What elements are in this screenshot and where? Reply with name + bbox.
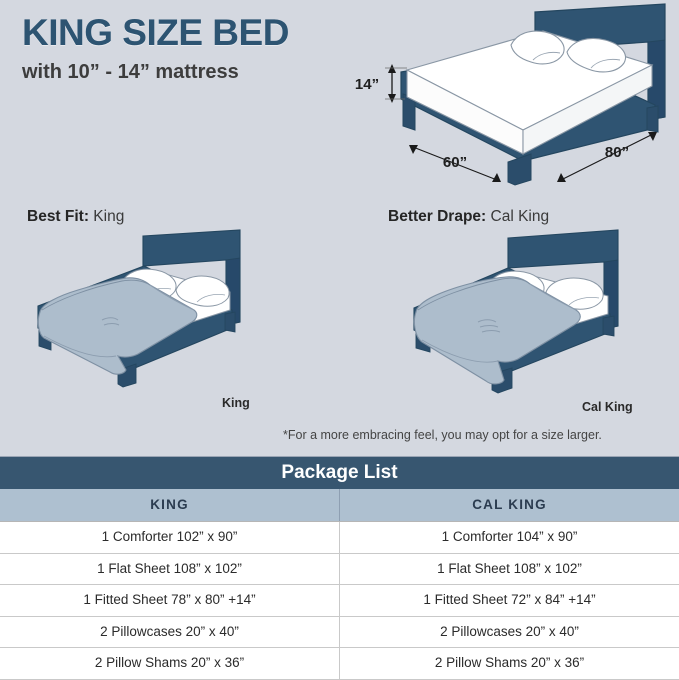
table-row: 1 Fitted Sheet 78” x 80” +14” 1 Fitted S… [0, 585, 679, 617]
cell-cal-king: 2 Pillowcases 20” x 40” [339, 617, 679, 648]
column-header-king: KING [0, 489, 339, 521]
dim-height-arrow-top [388, 64, 396, 73]
bed-leg-right [647, 106, 658, 132]
bed-leg-right [225, 312, 235, 332]
king-bed-dimension-diagram: 14” 60” 80” [345, 2, 679, 200]
bed-caption-cal-king: Cal King [582, 400, 633, 414]
dim-length-arrow-right [648, 132, 657, 141]
package-list-table: Package List KING CAL KING 1 Comforter 1… [0, 456, 679, 680]
page-title: KING SIZE BED [22, 14, 362, 53]
infographic-page: KING SIZE BED with 10” - 14” mattress 14… [0, 0, 679, 679]
column-header-cal-king: CAL KING [339, 489, 679, 521]
cell-cal-king: 1 Fitted Sheet 72” x 84” +14” [339, 585, 679, 616]
table-row: 2 Pillow Shams 20” x 36” 2 Pillow Shams … [0, 648, 679, 680]
table-row: 1 Comforter 102” x 90” 1 Comforter 104” … [0, 521, 679, 554]
bed-caption-king: King [222, 396, 250, 410]
bed-leg-front-center [508, 154, 531, 185]
footnote-text: *For a more embracing feel, you may opt … [283, 428, 602, 442]
cal-king-bed-draped-illustration [380, 228, 670, 400]
better-drape-label: Better Drape: Cal King [388, 208, 549, 226]
better-drape-label-bold: Better Drape: [388, 208, 486, 225]
best-fit-label: Best Fit: King [27, 208, 124, 226]
dim-width-arrow-right [492, 173, 501, 182]
better-drape-label-value: Cal King [486, 208, 549, 225]
dim-height-arrow-bottom [388, 94, 396, 103]
cell-king: 1 Comforter 102” x 90” [0, 522, 339, 553]
title-block: KING SIZE BED with 10” - 14” mattress [22, 14, 362, 83]
dim-width-arrow-left [409, 145, 418, 154]
best-fit-label-value: King [89, 208, 124, 225]
package-list-body: 1 Comforter 102” x 90” 1 Comforter 104” … [0, 521, 679, 680]
cell-king: 2 Pillowcases 20” x 40” [0, 617, 339, 648]
cell-cal-king: 1 Comforter 104” x 90” [339, 522, 679, 553]
package-list-column-headers: KING CAL KING [0, 489, 679, 521]
page-subtitle: with 10” - 14” mattress [22, 61, 362, 83]
package-list-title: Package List [0, 456, 679, 489]
cell-king: 2 Pillow Shams 20” x 36” [0, 648, 339, 679]
cell-cal-king: 2 Pillow Shams 20” x 36” [339, 648, 679, 679]
cell-king: 1 Fitted Sheet 78” x 80” +14” [0, 585, 339, 616]
cell-cal-king: 1 Flat Sheet 108” x 102” [339, 554, 679, 585]
dim-width-label: 60” [443, 154, 467, 171]
cell-king: 1 Flat Sheet 108” x 102” [0, 554, 339, 585]
table-row: 2 Pillowcases 20” x 40” 2 Pillowcases 20… [0, 617, 679, 649]
dim-length-arrow-left [557, 173, 566, 182]
best-fit-label-bold: Best Fit: [27, 208, 89, 225]
king-bed-draped-illustration [18, 228, 298, 388]
table-row: 1 Flat Sheet 108” x 102” 1 Flat Sheet 10… [0, 554, 679, 586]
dim-length-label: 80” [605, 144, 629, 161]
bed-leg-right [603, 316, 614, 336]
dim-height-label: 14” [355, 76, 379, 93]
